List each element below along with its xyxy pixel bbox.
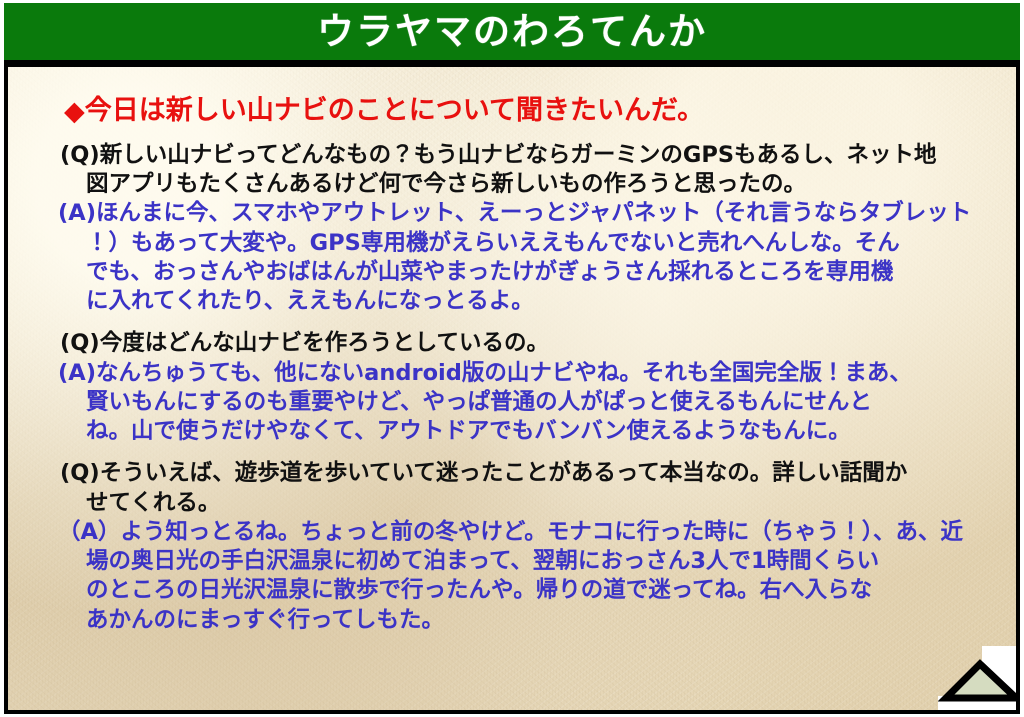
qa-block: (Q)新しい山ナビってどんなもの？もう山ナビならガーミンのGPSもあるし、ネット… bbox=[38, 141, 986, 317]
answer-line: (A)なんちゅうても、他にないandroid版の山ナビやね。それも全国完全版！ま… bbox=[58, 359, 986, 388]
paper-frame: ◆今日は新しい山ナビのことについて聞きたいんだ。 (Q)新しい山ナビってどんなも… bbox=[4, 63, 1020, 714]
headline: ◆今日は新しい山ナビのことについて聞きたいんだ。 bbox=[64, 95, 986, 127]
answer-line: でも、おっさんやおばはんが山菜やまったけがぎょうさん採れるところを専用機 bbox=[86, 258, 986, 287]
question-line: せてくれる。 bbox=[86, 489, 986, 518]
question-line: (Q)新しい山ナビってどんなもの？もう山ナビならガーミンのGPSもあるし、ネット… bbox=[60, 141, 986, 170]
question-line: 図アプリもたくさんあるけど何で今さら新しいもの作ろうと思ったの。 bbox=[86, 170, 986, 199]
answer-line: 場の奥日光の手白沢温泉に初めて泊まって、翌朝におっさん3人で1時間くらい bbox=[86, 547, 986, 576]
qa-block: (Q)そういえば、遊歩道を歩いていて迷ったことがあるって本当なの。詳しい話聞か … bbox=[38, 459, 986, 635]
title-banner: ウラヤマのわろてんか bbox=[4, 3, 1020, 63]
answer-line: ね。山で使うだけやなくて、アウトドアでもバンバン使えるようなもんに。 bbox=[86, 417, 986, 446]
qa-block: (Q)今度はどんな山ナビを作ろうとしているの。 (A)なんちゅうても、他にないa… bbox=[38, 329, 986, 446]
question-line: (Q)今度はどんな山ナビを作ろうとしているの。 bbox=[60, 329, 986, 358]
page-title: ウラヤマのわろてんか bbox=[317, 13, 707, 50]
answer-line: 賢いもんにするのも重要やけど、やっぱ普通の人がぱっと使えるもんにせんと bbox=[86, 388, 986, 417]
diamond-bullet-icon: ◆ bbox=[64, 98, 85, 125]
answer-line: のところの日光沢温泉に散歩で行ったんや。帰りの道で迷ってね。右へ入らな bbox=[86, 576, 986, 605]
answer-line: (A)ほんまに今、スマホやアウトレット、えーっとジャパネット（それ言うならタブレ… bbox=[58, 199, 986, 228]
slide-root: ウラヤマのわろてんか ◆今日は新しい山ナビのことについて聞きたいんだ。 (Q)新… bbox=[0, 0, 1024, 717]
answer-line: あかんのにまっすぐ行ってしもた。 bbox=[86, 606, 986, 635]
paper-content-area: ◆今日は新しい山ナビのことについて聞きたいんだ。 (Q)新しい山ナビってどんなも… bbox=[8, 67, 1016, 710]
answer-line: に入れてくれたり、ええもんになっとるよ。 bbox=[86, 287, 986, 316]
answer-line: （A）よう知っとるね。ちょっと前の冬やけど。モナコに行った時に（ちゃう！）、あ、… bbox=[58, 518, 986, 547]
question-line: (Q)そういえば、遊歩道を歩いていて迷ったことがあるって本当なの。詳しい話聞か bbox=[60, 459, 986, 488]
answer-line: ！）もあって大変や。GPS専用機がえらいええもんでないと売れへんしな。そん bbox=[86, 229, 986, 258]
headline-text: 今日は新しい山ナビのことについて聞きたいんだ。 bbox=[85, 95, 704, 126]
